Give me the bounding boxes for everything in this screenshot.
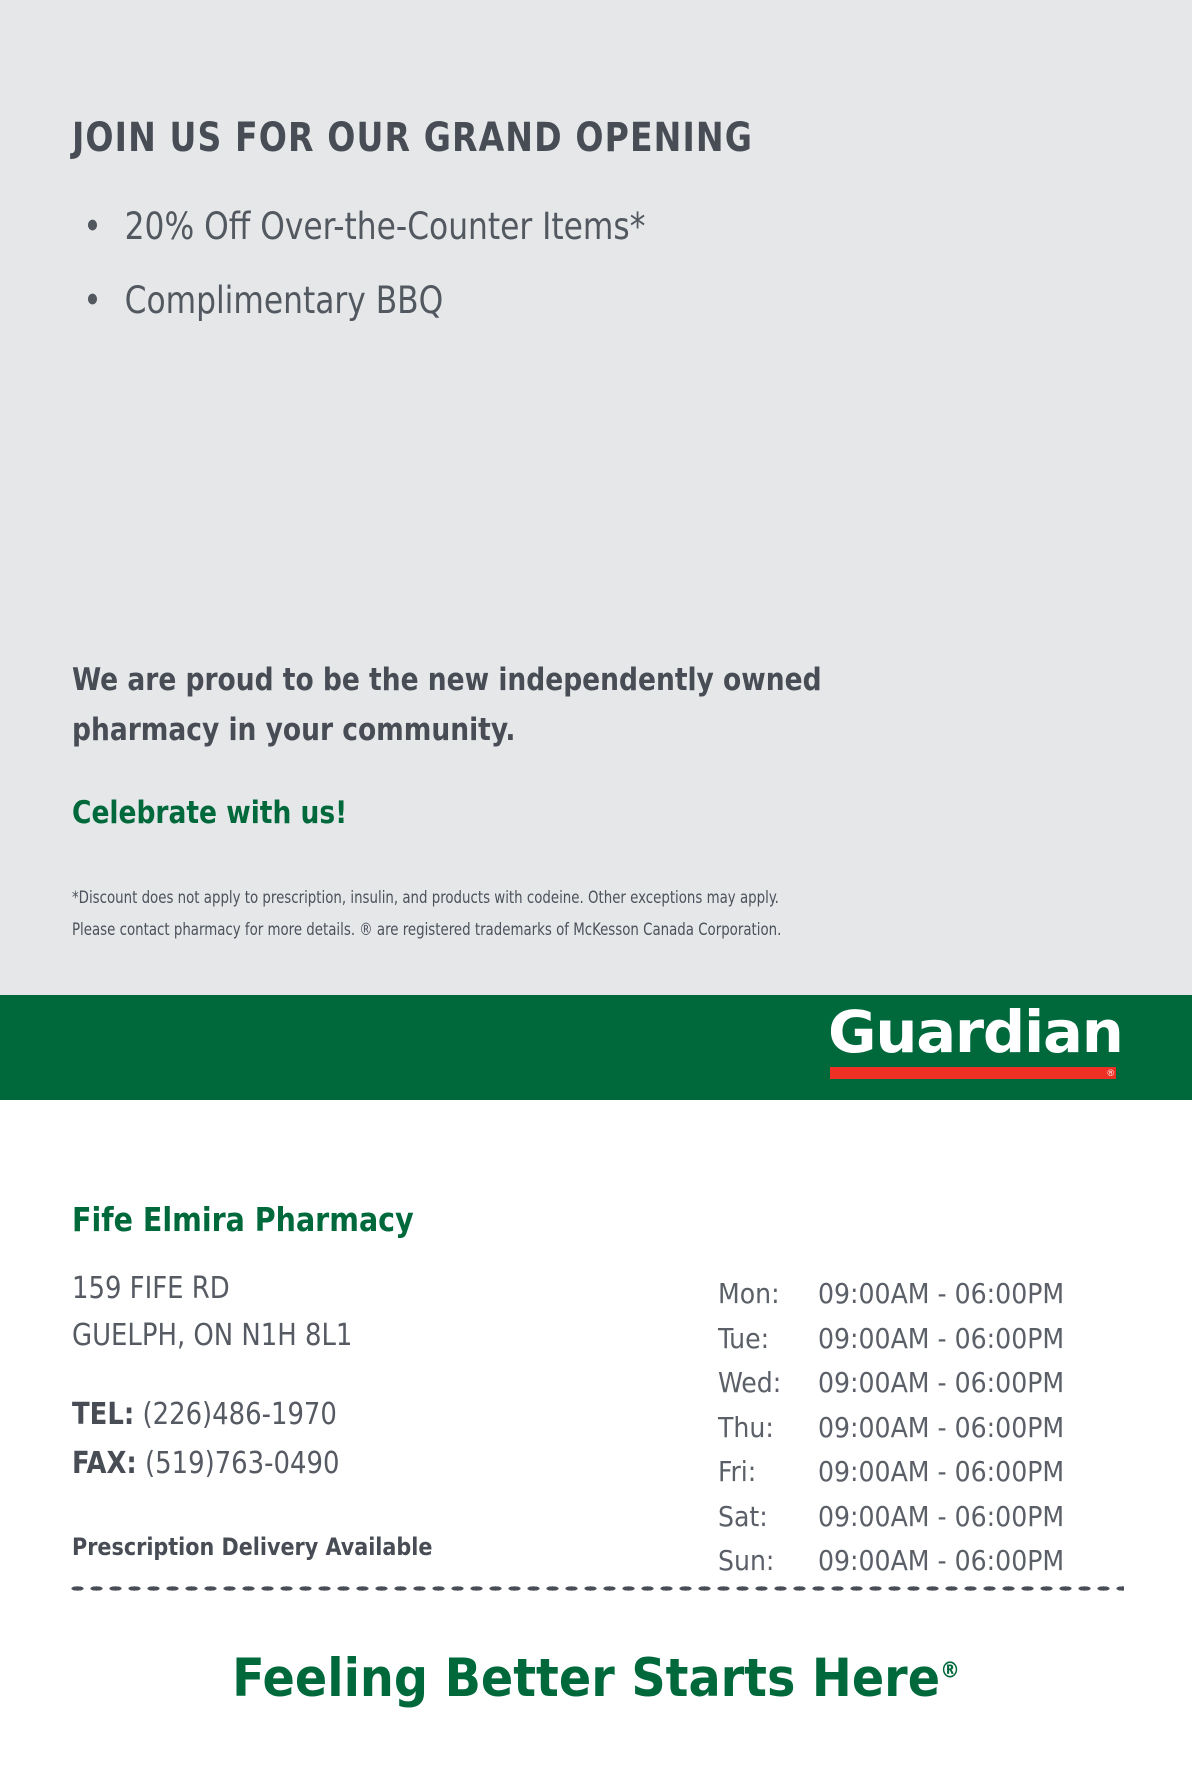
- table-row: Tue: 09:00AM - 06:00PM: [718, 1317, 1064, 1362]
- table-row: Sat: 09:00AM - 06:00PM: [718, 1495, 1064, 1540]
- disclaimer: *Discount does not apply to prescription…: [72, 882, 1017, 946]
- list-item: • Complimentary BBQ: [72, 264, 645, 338]
- fax-label: FAX:: [72, 1446, 137, 1481]
- hours-time: 09:00AM - 06:00PM: [818, 1539, 1064, 1584]
- address-line-2: GUELPH, ON N1H 8L1: [72, 1312, 352, 1359]
- proud-statement-line2: pharmacy in your community.: [72, 705, 1013, 755]
- table-row: Thu: 09:00AM - 06:00PM: [718, 1406, 1064, 1451]
- list-item-label: Complimentary BBQ: [125, 279, 444, 322]
- list-item: • 20% Off Over-the-Counter Items*: [72, 190, 645, 264]
- address-line-1: 159 FIFE RD: [72, 1265, 352, 1312]
- hours-day: Thu:: [718, 1406, 818, 1451]
- promo-panel: JOIN US FOR OUR GRAND OPENING • 20% Off …: [0, 0, 1192, 995]
- disclaimer-line2: Please contact pharmacy for more details…: [72, 914, 1017, 946]
- proud-statement-line1: We are proud to be the new independently…: [72, 655, 1013, 705]
- hours-day: Sun:: [718, 1539, 818, 1584]
- store-name: Fife Elmira Pharmacy: [72, 1200, 414, 1239]
- delivery-note: Prescription Delivery Available: [72, 1533, 432, 1561]
- table-row: Fri: 09:00AM - 06:00PM: [718, 1450, 1064, 1495]
- disclaimer-line1: *Discount does not apply to prescription…: [72, 882, 1017, 914]
- registered-trademark-icon: ®: [1107, 1067, 1114, 1079]
- store-address: 159 FIFE RD GUELPH, ON N1H 8L1: [72, 1265, 352, 1359]
- logo-red-bar-icon: [830, 1067, 1116, 1079]
- table-row: Sun: 09:00AM - 06:00PM: [718, 1539, 1064, 1584]
- telephone-label: TEL:: [72, 1397, 134, 1432]
- hours-time: 09:00AM - 06:00PM: [818, 1450, 1064, 1495]
- bullet-icon: •: [83, 264, 101, 338]
- guardian-wordmark: Guardian: [828, 1001, 1123, 1063]
- flyer-page: JOIN US FOR OUR GRAND OPENING • 20% Off …: [0, 0, 1192, 1785]
- table-row: Mon: 09:00AM - 06:00PM: [718, 1272, 1064, 1317]
- hours-day: Wed:: [718, 1361, 818, 1406]
- store-hours-table: Mon: 09:00AM - 06:00PM Tue: 09:00AM - 06…: [718, 1272, 1064, 1584]
- guardian-logo: Guardian ®: [828, 1003, 1118, 1091]
- tagline: Feeling Better Starts Here®: [0, 1648, 1192, 1709]
- brand-band: Guardian ®: [0, 995, 1192, 1100]
- tagline-registered-icon: ®: [940, 1658, 960, 1683]
- hours-day: Mon:: [718, 1272, 818, 1317]
- hours-day: Sat:: [718, 1495, 818, 1540]
- fax-row: FAX: (519)763-0490: [72, 1439, 339, 1488]
- fax-value: (519)763-0490: [145, 1446, 339, 1481]
- hours-time: 09:00AM - 06:00PM: [818, 1272, 1064, 1317]
- telephone-row: TEL: (226)486-1970: [72, 1390, 339, 1439]
- telephone-value[interactable]: (226)486-1970: [143, 1397, 337, 1432]
- store-contact: TEL: (226)486-1970 FAX: (519)763-0490: [72, 1390, 339, 1488]
- hours-time: 09:00AM - 06:00PM: [818, 1317, 1064, 1362]
- hours-time: 09:00AM - 06:00PM: [818, 1361, 1064, 1406]
- tagline-text: Feeling Better Starts Here: [232, 1648, 940, 1709]
- proud-statement: We are proud to be the new independently…: [72, 655, 1013, 755]
- promo-offer-list: • 20% Off Over-the-Counter Items* • Comp…: [72, 190, 682, 338]
- hours-time: 09:00AM - 06:00PM: [818, 1406, 1064, 1451]
- list-item-label: 20% Off Over-the-Counter Items*: [125, 205, 646, 248]
- hours-time: 09:00AM - 06:00PM: [818, 1495, 1064, 1540]
- hours-day: Fri:: [718, 1450, 818, 1495]
- page-title: JOIN US FOR OUR GRAND OPENING: [72, 118, 753, 158]
- bullet-icon: •: [83, 190, 101, 264]
- hours-day: Tue:: [718, 1317, 818, 1362]
- dotted-divider: [68, 1585, 1124, 1592]
- celebrate-callout: Celebrate with us!: [72, 795, 347, 831]
- table-row: Wed: 09:00AM - 06:00PM: [718, 1361, 1064, 1406]
